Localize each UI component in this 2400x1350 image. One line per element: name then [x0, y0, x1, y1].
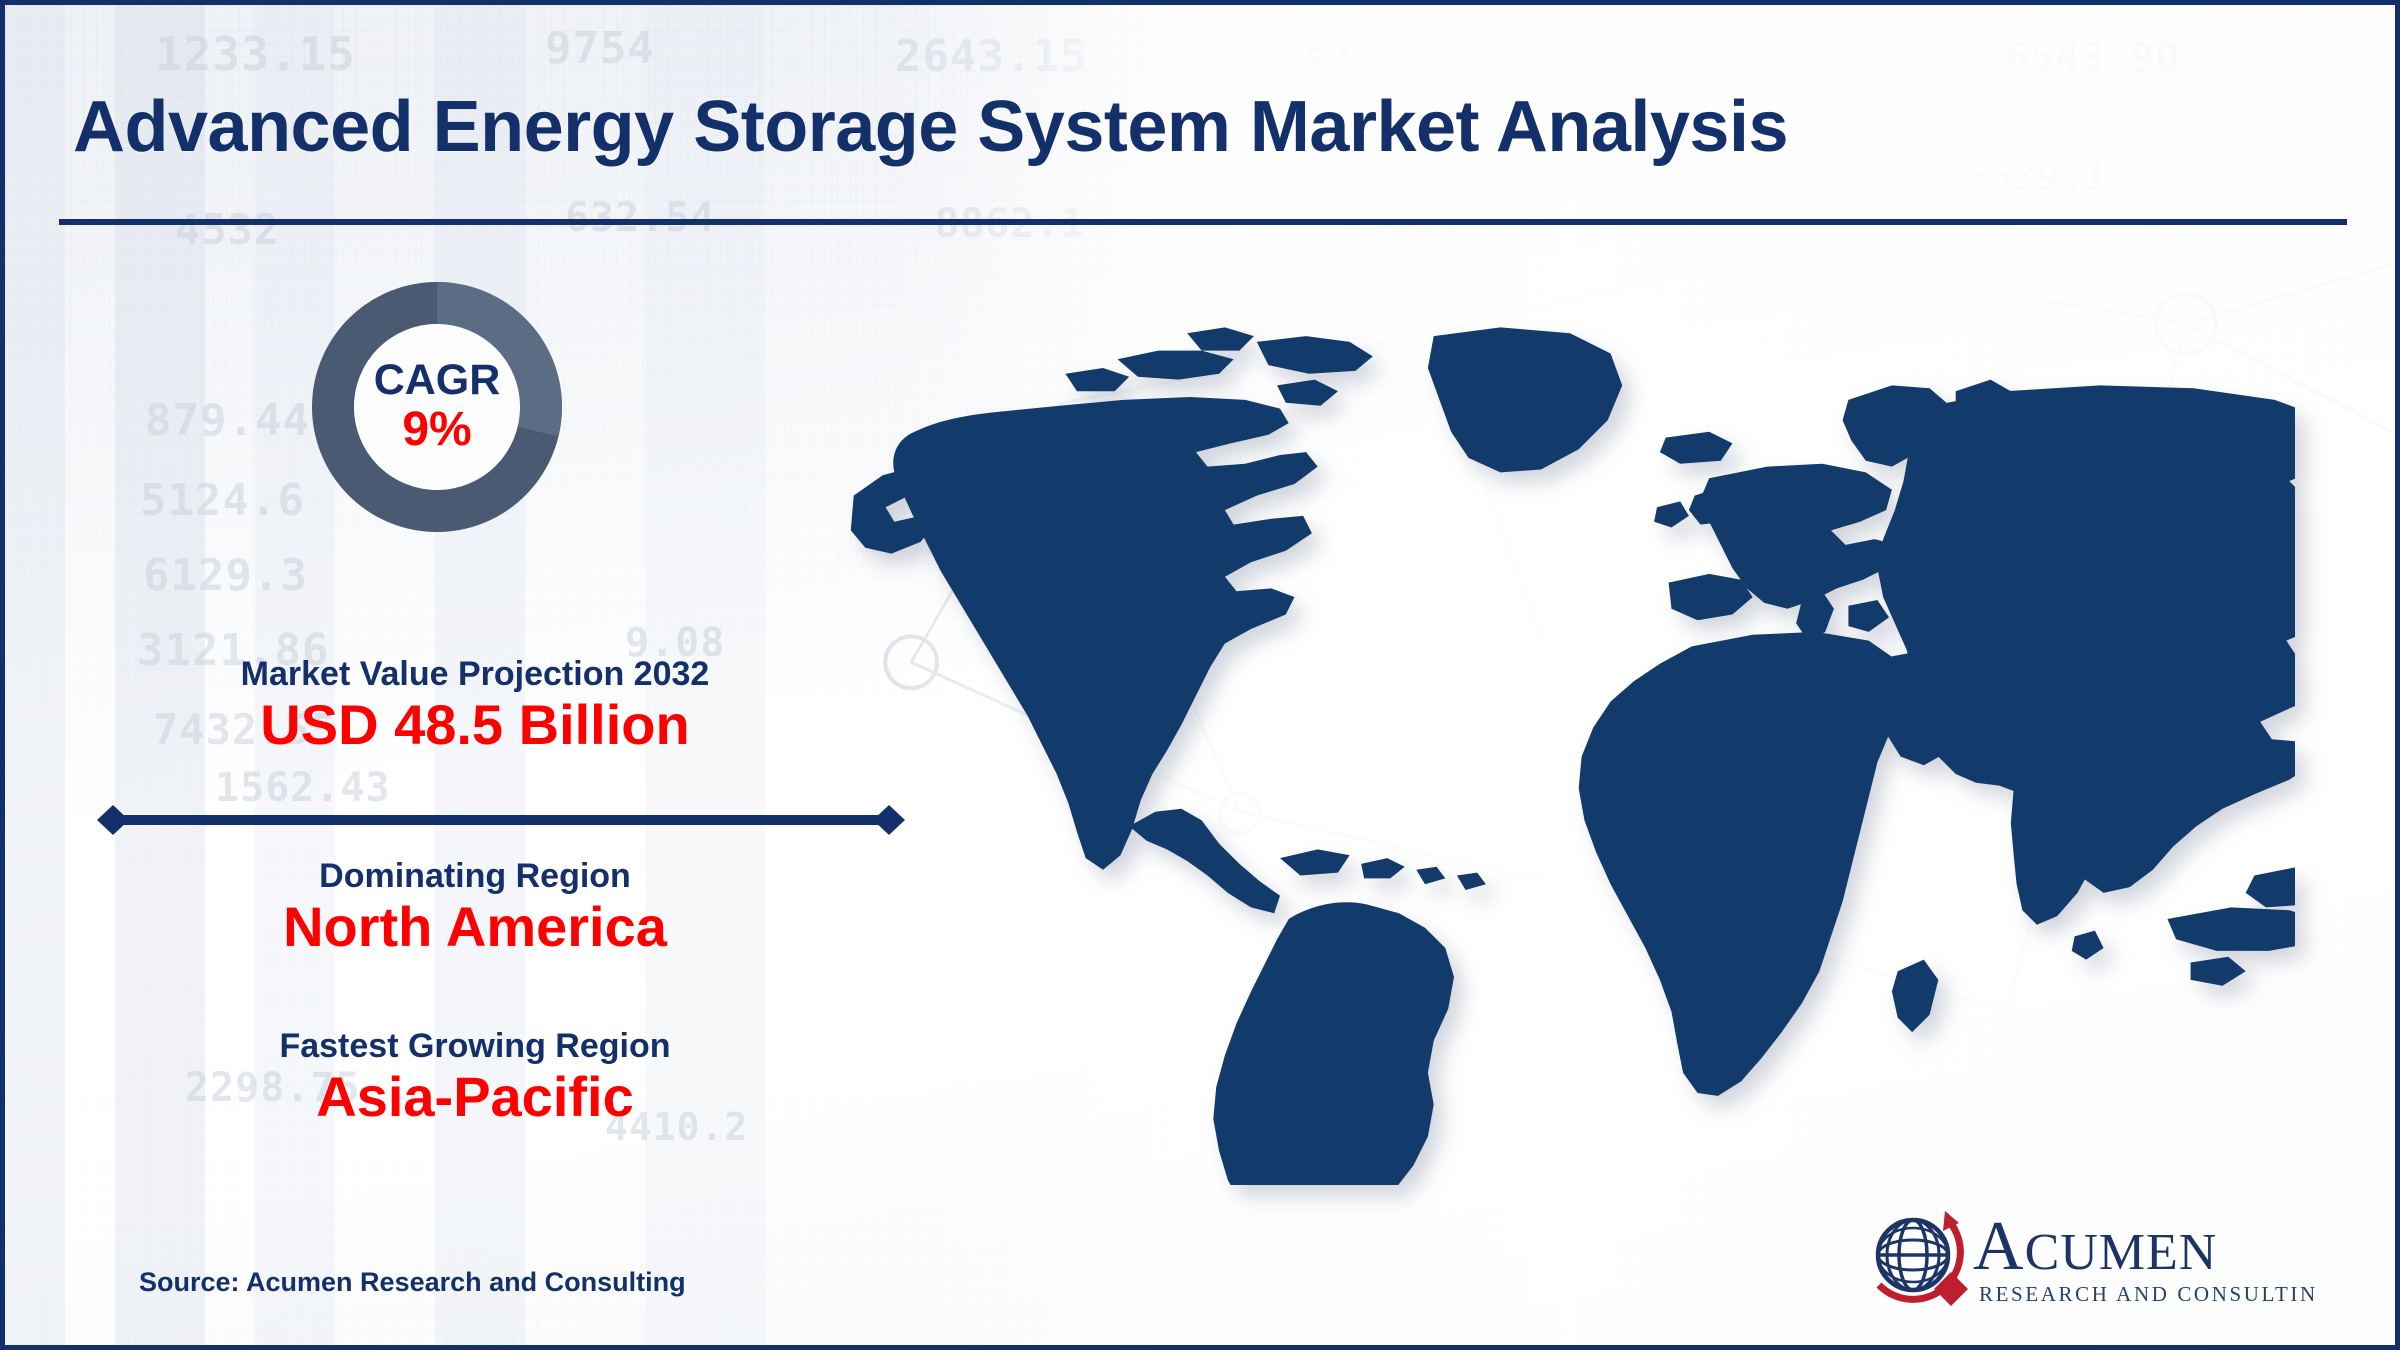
logo-tagline: RESEARCH AND CONSULTING: [1979, 1282, 2315, 1306]
donut-value: 9%: [402, 405, 471, 455]
donut-label: CAGR: [374, 358, 501, 403]
stat-value: Asia-Pacific: [45, 1066, 905, 1129]
page-title: Advanced Energy Storage System Market An…: [73, 91, 2363, 163]
stat-label: Fastest Growing Region: [45, 1027, 905, 1066]
world-map-svg: [845, 305, 2295, 1185]
stat-label: Market Value Projection 2032: [45, 655, 905, 694]
stat-value: USD 48.5 Billion: [45, 694, 905, 757]
infographic-canvas: 1233.1597542643.15873.4573216543.9045326…: [0, 0, 2400, 1350]
logo-svg: ACUMEN RESEARCH AND CONSULTING: [1855, 1201, 2315, 1319]
stat-market-value: Market Value Projection 2032 USD 48.5 Bi…: [45, 655, 905, 757]
globe-icon: [1878, 1220, 1948, 1290]
map-shapes: [851, 327, 2295, 1185]
title-divider: [59, 219, 2347, 225]
divider-left-diamond: [97, 805, 129, 835]
acumen-logo[interactable]: ACUMEN RESEARCH AND CONSULTING: [1855, 1201, 2315, 1319]
cagr-donut-chart: CAGR 9%: [303, 273, 571, 541]
logo-wordmark: ACUMEN: [1973, 1208, 2217, 1285]
stat-fastest-growing-region: Fastest Growing Region Asia-Pacific: [45, 1027, 905, 1129]
stat-value: North America: [45, 896, 905, 959]
source-note: Source: Acumen Research and Consulting: [139, 1267, 686, 1298]
stat-dominating-region: Dominating Region North America: [45, 857, 905, 959]
world-map: [845, 305, 2295, 1185]
arrow-divider: [91, 803, 911, 837]
stat-label: Dominating Region: [45, 857, 905, 896]
